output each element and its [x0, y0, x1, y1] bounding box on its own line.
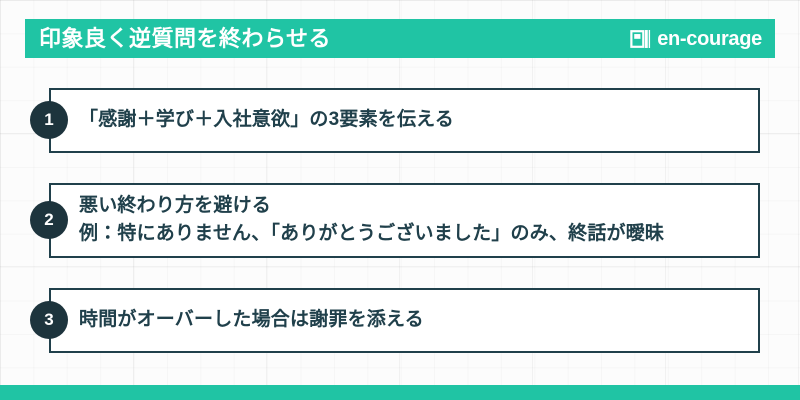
header-bar: 印象良く逆質問を終わらせる en-courage [25, 19, 775, 58]
list-item-line: 例：特にありません、「ありがとうございました」のみ、終話が曖昧 [79, 221, 664, 248]
footer-accent-bar [0, 385, 800, 400]
list-item-text: 悪い終わり方を避ける 例：特にありません、「ありがとうございました」のみ、終話が… [51, 193, 664, 248]
list-item-text: 時間がオーバーした場合は謝罪を添える [51, 307, 424, 334]
list-item-line: 時間がオーバーした場合は謝罪を添える [79, 307, 424, 334]
brand-name: en-courage [657, 29, 762, 49]
items-list: 「感謝＋学び＋入社意欲」の3要素を伝える 1 悪い終わり方を避ける 例：特にあり… [0, 0, 800, 400]
page-title: 印象良く逆質問を終わらせる [39, 28, 331, 50]
list-item-line: 「感謝＋学び＋入社意欲」の3要素を伝える [79, 107, 454, 134]
step-number-badge: 3 [30, 301, 68, 339]
list-item-text: 「感謝＋学び＋入社意欲」の3要素を伝える [51, 107, 454, 134]
step-number-badge: 2 [30, 201, 68, 239]
list-item: 時間がオーバーした場合は謝罪を添える [49, 288, 760, 353]
step-number-badge: 1 [30, 101, 68, 139]
brand-logo: en-courage [630, 28, 762, 50]
list-item: 悪い終わり方を避ける 例：特にありません、「ありがとうございました」のみ、終話が… [49, 183, 760, 258]
slide-canvas: 印象良く逆質問を終わらせる en-courage 「感謝＋学び＋入社意欲」の3要… [0, 0, 800, 400]
list-item: 「感謝＋学び＋入社意欲」の3要素を伝える [49, 88, 760, 153]
open-book-icon [630, 28, 652, 50]
list-item-line: 悪い終わり方を避ける [79, 193, 664, 220]
